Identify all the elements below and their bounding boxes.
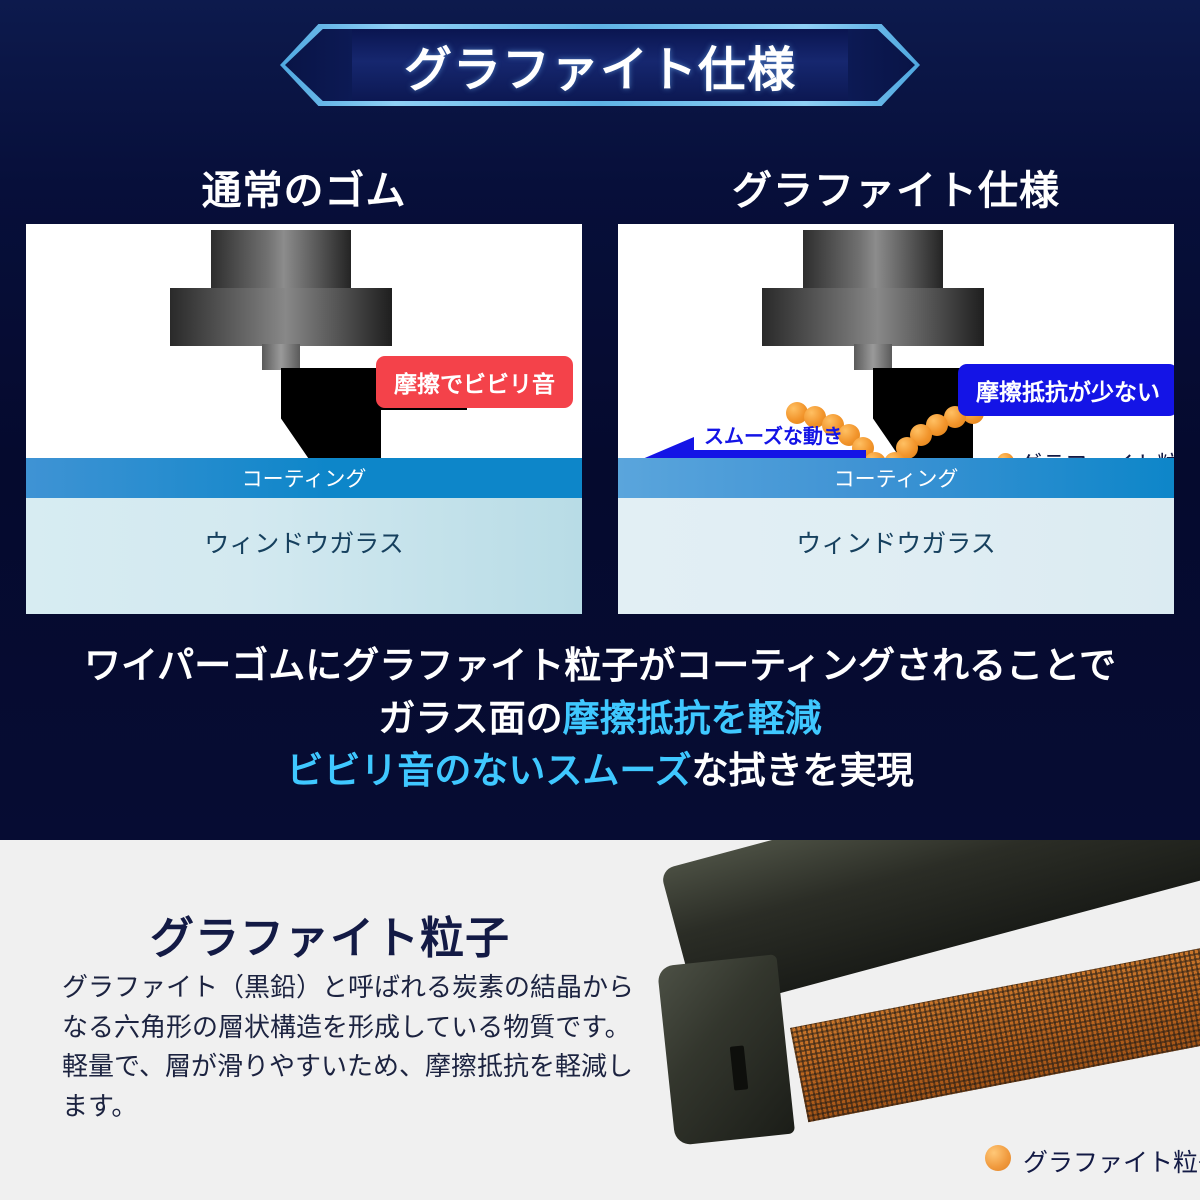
holder-cap-icon xyxy=(803,230,943,292)
coating-layer-left: コーティング xyxy=(26,458,582,498)
graphite-info-section: グラファイト粒子 グラファイト（黒鉛）と呼ばれる炭素の結晶からなる六角形の層状構… xyxy=(0,840,1200,1200)
smooth-motion-label: スムーズな動き xyxy=(704,420,843,449)
graphite-diagram: 摩擦抵抗が少ない スムーズな動き グラファイト粒子 コーティング ウィンドウガラ… xyxy=(618,224,1174,614)
glass-layer-left: ウィンドウガラス xyxy=(26,498,582,614)
normal-rubber-diagram: 摩擦でビビリ音 摩擦抵抗が大きい 摩擦抵抗が大きい コーティング ウィンドウガラ… xyxy=(26,224,582,614)
coating-layer-right: コーティング xyxy=(618,458,1174,498)
description-line-2-highlight: 摩擦抵抗を軽減 xyxy=(563,698,822,739)
graphite-particle-icon xyxy=(985,1145,1011,1171)
description-line-1: ワイパーゴムにグラファイト粒子がコーティングされることで xyxy=(0,640,1200,693)
blade-tip xyxy=(657,954,795,1146)
holder-flange-icon xyxy=(762,288,984,346)
bottom-heading: グラファイト粒子 xyxy=(150,902,510,966)
description-line-2-prefix: ガラス面の xyxy=(378,698,562,739)
bottom-body-text: グラファイト（黒鉛）と呼ばれる炭素の結晶からなる六角形の層状構造を形成している物… xyxy=(62,968,642,1126)
header-badge: グラファイト仕様 xyxy=(280,24,920,106)
infographic-page: グラファイト仕様 通常のゴム グラファイト仕様 摩擦でビビリ音 xyxy=(0,0,1200,1200)
glass-layer-right: ウィンドウガラス xyxy=(618,498,1174,614)
holder-cap-icon xyxy=(211,230,351,292)
header-title: グラファイト仕様 xyxy=(280,24,920,106)
description-line-3-suffix: な拭きを実現 xyxy=(692,750,914,791)
description-block: ワイパーゴムにグラファイト粒子がコーティングされることで ガラス面の摩擦抵抗を軽… xyxy=(0,640,1200,798)
left-panel-title: 通常のゴム xyxy=(24,158,584,216)
photo-legend-label: グラファイト粒子 xyxy=(1023,1143,1200,1179)
description-line-3-highlight-1: ビビリ音のない xyxy=(286,750,545,791)
description-line-3-highlight-2: スムーズ xyxy=(545,750,691,791)
description-line-3: ビビリ音のないスムーズな拭きを実現 xyxy=(0,745,1200,798)
low-friction-badge: 摩擦抵抗が少ない xyxy=(958,364,1174,416)
comparison-section: グラファイト仕様 通常のゴム グラファイト仕様 摩擦でビビリ音 xyxy=(0,0,1200,840)
holder-neck-icon xyxy=(854,344,892,370)
description-line-2: ガラス面の摩擦抵抗を軽減 xyxy=(0,693,1200,746)
noise-badge: 摩擦でビビリ音 xyxy=(376,356,573,408)
holder-flange-icon xyxy=(170,288,392,346)
right-panel-title: グラファイト仕様 xyxy=(616,158,1176,216)
holder-neck-icon xyxy=(262,344,300,370)
